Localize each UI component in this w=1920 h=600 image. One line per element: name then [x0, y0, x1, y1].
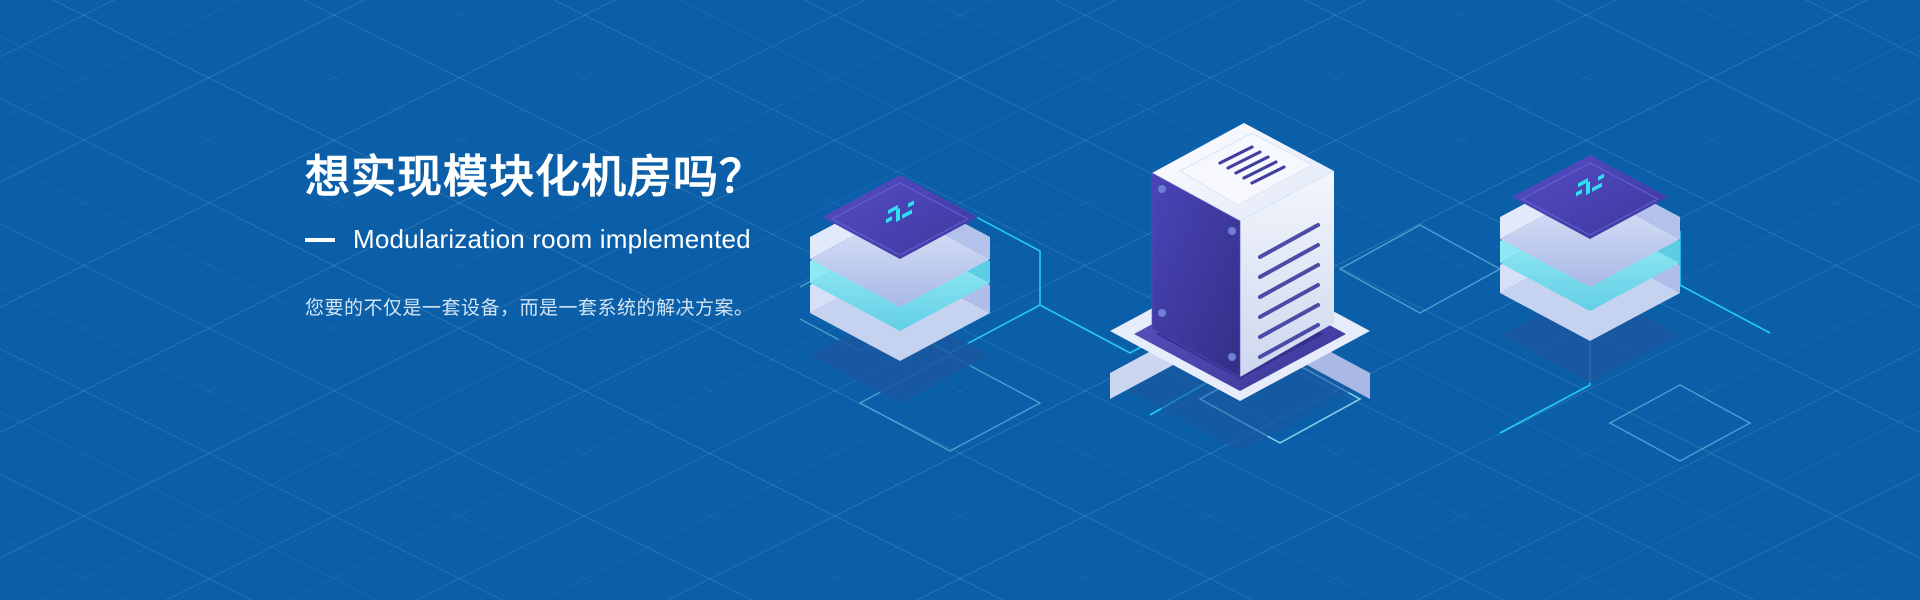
chip-module-left — [810, 175, 990, 403]
page-subtitle: Modularization room implemented — [353, 224, 751, 255]
hero-banner: 想实现模块化机房吗？ Modularization room implement… — [0, 0, 1920, 600]
chip-module-right — [1500, 155, 1680, 383]
isometric-server-illustration — [800, 55, 1920, 475]
dash-divider-icon — [305, 238, 335, 242]
